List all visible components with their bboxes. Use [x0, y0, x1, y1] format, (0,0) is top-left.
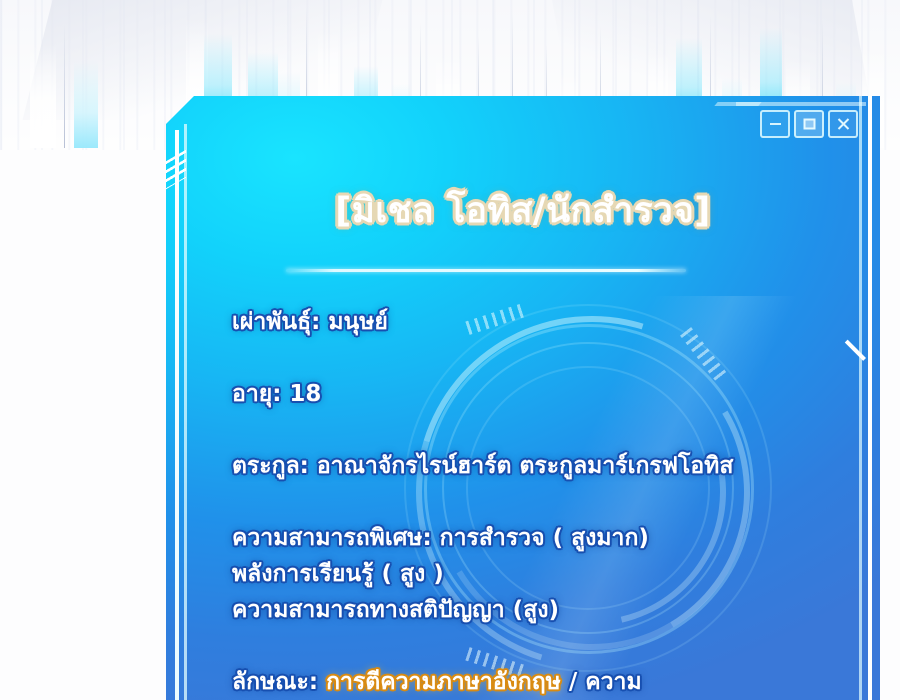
field-learning-power: พลังการเรียนรู้ ( สูง ): [232, 556, 872, 592]
spacer: [232, 484, 872, 520]
page-title: [มิเชล โอทิส/นักสำรวจ]: [166, 192, 880, 231]
field-trait: ลักษณะ: การตีความภาษาอังกฤษ / ความ: [232, 664, 872, 700]
panel-content: [มิเชล โอทิส/นักสำรวจ] เผ่าพันธุ์: มนุษย…: [166, 96, 880, 700]
spacer: [232, 628, 872, 664]
spacer: [232, 412, 872, 448]
screenshot-stage: [มิเชล โอทิส/นักสำรวจ] เผ่าพันธุ์: มนุษย…: [0, 0, 900, 700]
field-intelligence: ความสามารถทางสติปัญญา (สูง): [232, 592, 872, 628]
character-info-panel: [มิเชล โอทิส/นักสำรวจ] เผ่าพันธุ์: มนุษย…: [166, 96, 880, 700]
field-race: เผ่าพันธุ์: มนุษย์: [232, 304, 872, 340]
field-special-ability: ความสามารถพิเศษ: การสำรวจ ( สูงมาก): [232, 520, 872, 556]
field-trait-label: ลักษณะ:: [232, 669, 318, 695]
field-trait-tail: / ความ: [569, 669, 642, 695]
title-divider: [286, 269, 686, 272]
field-trait-highlight: การตีความภาษาอังกฤษ: [326, 669, 561, 695]
character-fields: เผ่าพันธุ์: มนุษย์ อายุ: 18 ตระกูล: อาณา…: [232, 304, 872, 700]
field-family: ตระกูล: อาณาจักรไรน์ฮาร์ต ตระกูลมาร์เกรฟ…: [232, 448, 872, 484]
spacer: [232, 340, 872, 376]
field-age: อายุ: 18: [232, 376, 872, 412]
